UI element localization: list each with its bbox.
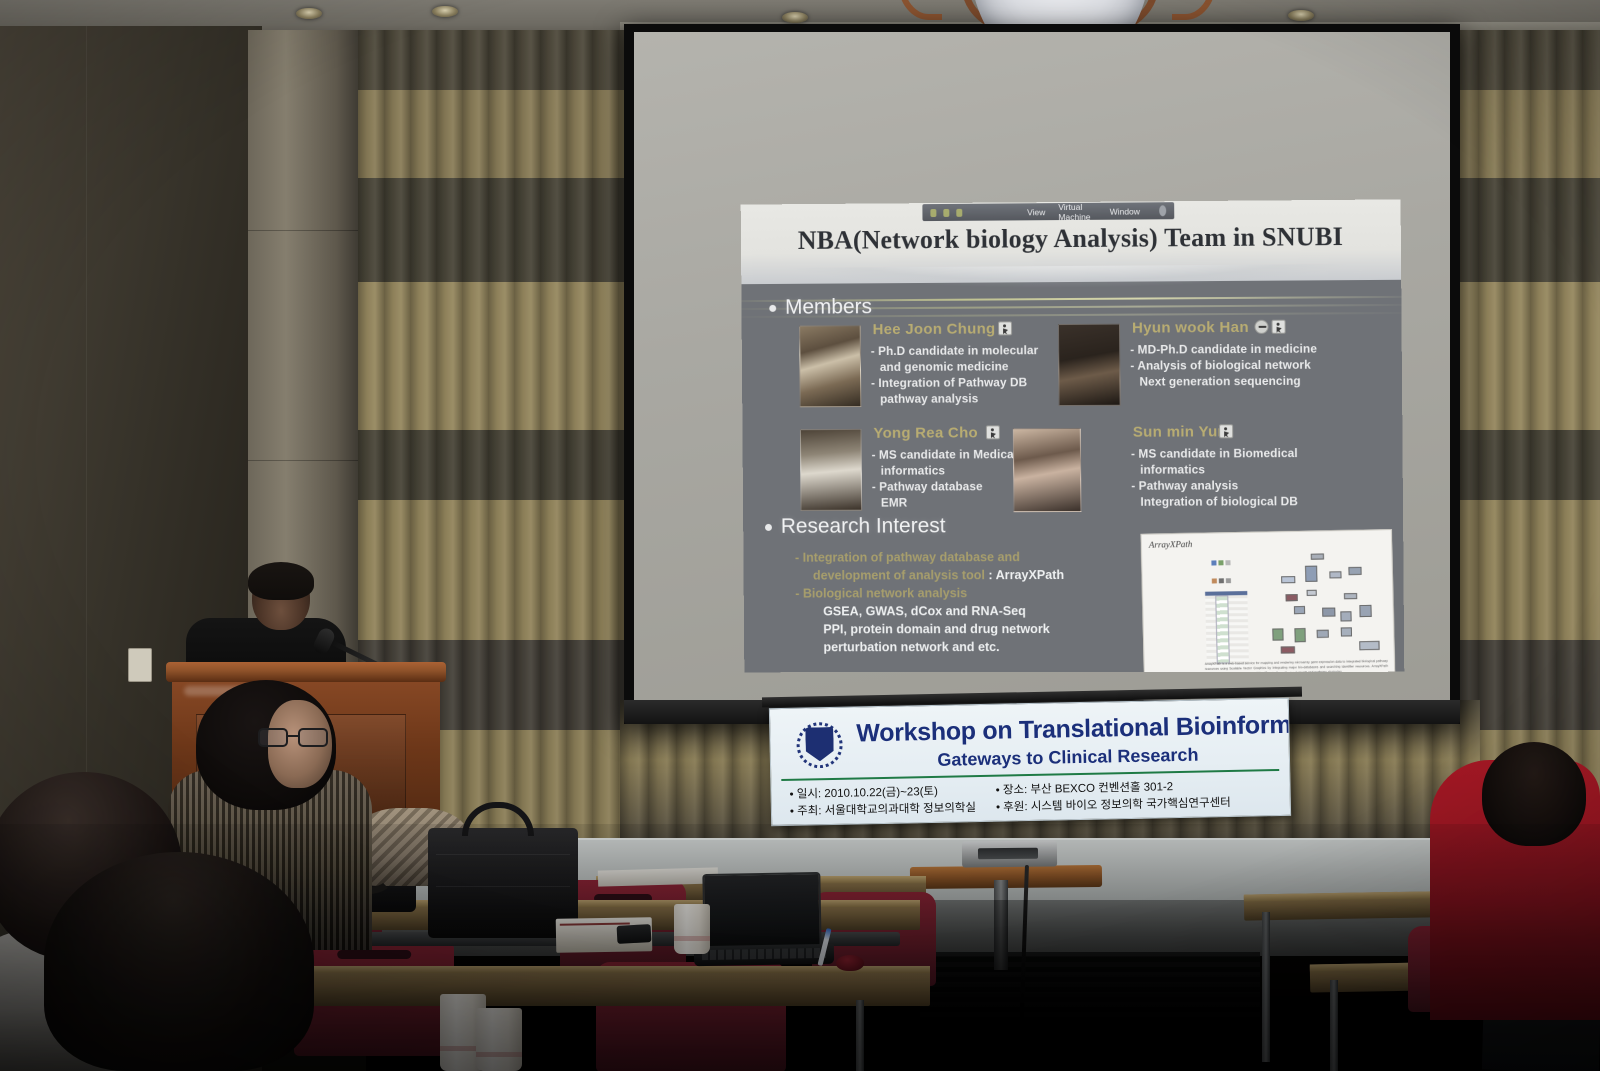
vm-window-controls[interactable] [930,208,962,216]
pathway-node [1344,593,1357,599]
projection-screen-surface: NBA(Network biology Analysis) Team in SN… [634,32,1450,714]
pathway-node [1340,611,1351,621]
vm-menubar[interactable]: View Virtual Machine Window [922,202,1174,221]
podium-top [166,662,446,682]
pathway-node [1294,606,1305,614]
pot-light-icon [782,12,808,23]
conference-room-photo: NBA(Network biology Analysis) Team in SN… [0,0,1600,1071]
research-line-3: - Biological network analysis [795,584,1174,603]
desk-leg [1330,980,1338,1071]
pathway-node [1294,628,1305,642]
research-line-4: GSEA, GWAS, dCox and RNA-Seq [795,602,1174,621]
apple-menu-icon[interactable] [1159,205,1166,216]
member-details: - Ph.D candidate in molecular and genomi… [871,342,1039,407]
mobile-phone [617,924,652,944]
pathway-node [1322,607,1335,616]
menu-item-view[interactable]: View [1027,207,1045,217]
projector [962,841,1057,868]
member-photo [1058,324,1121,406]
banner-sponsor: • 후원: 시스템 바이오 정보의학 국가핵심연구센터 [996,795,1231,817]
arrayxpath-legend [1210,553,1251,590]
member-details: - MS candidate in Biomedical informatics… [1131,445,1298,510]
projector-lens-icon [978,848,1038,860]
pathway-node [1286,594,1298,601]
member-details: - MS candidate in Medical informatics - … [872,446,1018,510]
pathway-node [1359,641,1379,650]
projection-screen: NBA(Network biology Analysis) Team in SN… [624,24,1460,724]
member-name: Sun min Yun [1133,423,1227,440]
research-line-5: PPI, protein domain and drug network [795,620,1174,639]
pot-light-icon [432,6,458,17]
members-heading-label: Members [785,295,872,319]
person-running-icon [1219,424,1233,438]
arrayxpath-caption: ArrayXPath is a web-based service for ma… [1205,659,1389,672]
laptop-screen [702,872,821,952]
minus-circle-icon [1254,320,1268,334]
banner-title: Workshop on Translational Bioinformatics [856,711,1282,749]
workshop-banner: Workshop on Translational Bioinformatics… [769,698,1291,826]
pot-light-icon [1288,10,1314,21]
pathway-node [1281,646,1295,653]
banner-subtitle: Gateways to Clinical Research [857,743,1279,772]
presentation-slide: NBA(Network biology Analysis) Team in SN… [741,199,1405,672]
arrayxpath-heatmap-column [1215,595,1230,663]
research-line-1: - Integration of pathway database and [795,548,1174,567]
laptop-keyboard[interactable] [694,944,834,966]
pathway-node [1348,567,1361,575]
member-photo [799,325,861,407]
wall-outlet-plate [128,648,152,682]
banner-host: • 주최: 서울대학교의과대학 정보의학실 [790,800,976,821]
member-details: - MD-Ph.D candidate in medicine - Analys… [1130,341,1317,390]
member-card: Sun min Yun - MS candidate in Biomedical… [1059,423,1330,424]
member-name: Hee Joon Chung [873,320,996,338]
paper-cup [674,904,710,954]
research-interest-body: - Integration of pathway database and de… [795,548,1175,657]
pathway-node [1359,605,1371,617]
pathway-node [1305,566,1317,582]
desk-leg [1262,912,1270,1062]
pathway-node [1272,628,1283,640]
research-line-2: development of analysis tool [813,568,985,582]
member-card: Yong Rea Cho - MS candidate in Medical i… [800,424,1069,425]
member-photo [800,429,862,511]
eyeglasses-icon [258,728,330,748]
pathway-node [1281,576,1295,583]
member-name: Yong Rea Cho [873,424,978,441]
speaker-hair [248,562,314,600]
arrayxpath-title: ArrayXPath [1149,539,1193,550]
research-line-6: perturbation network and etc. [796,638,1175,656]
computer-mouse[interactable] [836,955,864,971]
research-tool-name: : ArrayXPath [988,568,1064,582]
pathway-node [1341,627,1352,636]
person-running-icon [986,425,1000,439]
slide-title: NBA(Network biology Analysis) Team in SN… [741,222,1401,257]
menu-item-virtual-machine[interactable]: Virtual Machine [1058,201,1096,221]
slide-section-members: Members [769,295,872,320]
member-photo [1013,428,1082,512]
member-card: Hyun wook Han - MD-Ph.D candidate in med… [1058,318,1329,320]
member-name: Hyun wook Han [1132,319,1249,337]
pathway-node [1329,571,1341,578]
bullet-dot-icon [769,304,776,311]
desk-leg [856,1000,864,1071]
banner-details-left: • 일시: 2010.10.22(금)~23(토) • 주최: 서울대학교의과대… [789,783,976,821]
bullet-dot-icon [765,523,772,530]
banner-details-right: • 장소: 부산 BEXCO 컨벤션홀 301-2 • 후원: 시스템 바이오 … [996,778,1231,817]
pathway-node [1311,553,1324,559]
person-running-icon [1271,320,1285,334]
paper-cup [476,1008,522,1071]
pathway-node [1307,590,1317,596]
paper-sheet [598,867,718,886]
arrayxpath-screenshot: ArrayXPath [1141,529,1396,672]
university-crest-icon [796,722,843,771]
person-running-icon [998,321,1012,335]
menu-item-window[interactable]: Window [1110,206,1140,216]
pot-light-icon [296,8,322,19]
research-heading-label: Research Interest [781,514,946,538]
member-card: Hee Joon Chung - Ph.D candidate in molec… [799,320,1068,322]
slide-section-research-interest: Research Interest [765,514,946,538]
pathway-node [1317,630,1329,638]
